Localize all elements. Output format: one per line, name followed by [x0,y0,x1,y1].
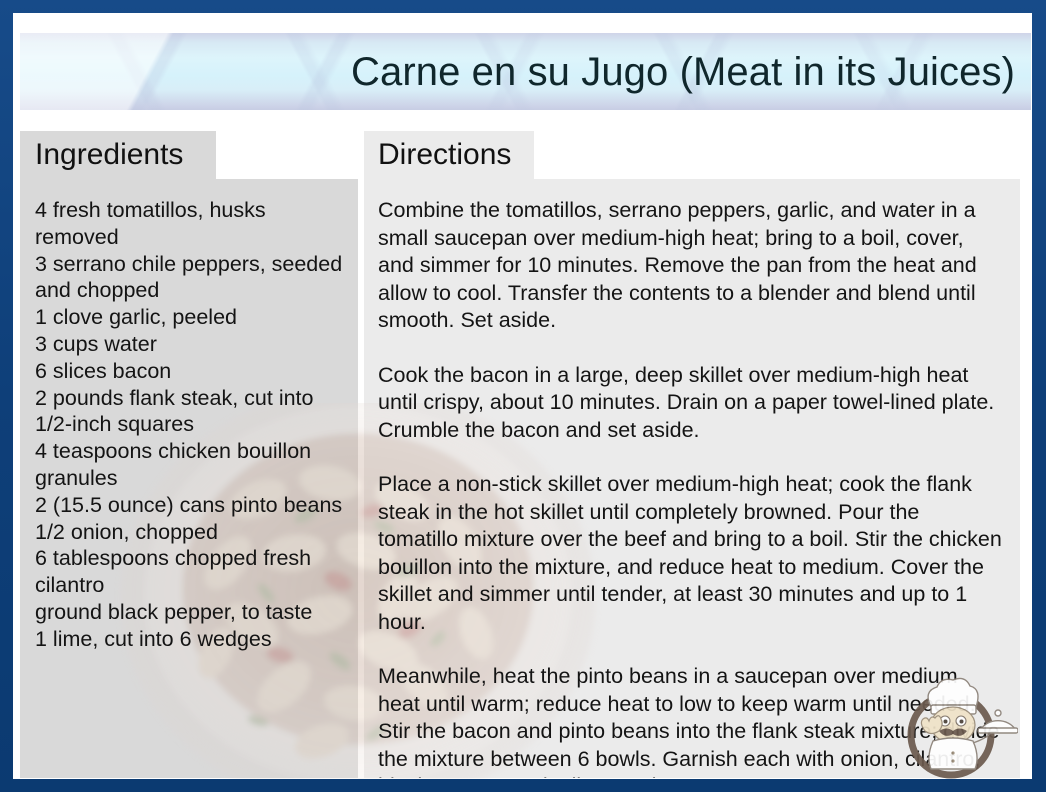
ingredient-item: 4 fresh tomatillos, husks removed [35,197,348,251]
ingredient-item: 2 (15.5 ounce) cans pinto beans [35,492,348,519]
ingredients-list: 4 fresh tomatillos, husks removed3 serra… [20,179,358,653]
recipe-card: Carne en su Jugo (Meat in its Juices) In… [0,0,1046,792]
ingredient-item: 1/2 onion, chopped [35,519,348,546]
ingredients-panel: 4 fresh tomatillos, husks removed3 serra… [20,179,358,778]
recipe-card-inner: Carne en su Jugo (Meat in its Juices) In… [13,13,1032,779]
ingredients-heading-label: Ingredients [35,140,183,170]
ingredient-item: 3 cups water [35,331,348,358]
title-banner: Carne en su Jugo (Meat in its Juices) [20,33,1031,110]
direction-step: Place a non-stick skillet over medium-hi… [378,471,1002,636]
directions-heading-label: Directions [378,140,511,170]
ingredient-item: 6 tablespoons chopped fresh cilantro [35,545,348,599]
recipe-title: Carne en su Jugo (Meat in its Juices) [351,51,1015,93]
ingredient-item: 1 clove garlic, peeled [35,304,348,331]
ingredient-item: 4 teaspoons chicken bouillon granules [35,438,348,492]
ingredient-item: 3 serrano chile peppers, seeded and chop… [35,251,348,305]
direction-step: Cook the bacon in a large, deep skillet … [378,362,1002,445]
ingredient-item: 1 lime, cut into 6 wedges [35,626,348,653]
ingredient-item: 2 pounds flank steak, cut into 1/2-inch … [35,385,348,439]
directions-heading-tab: Directions [364,131,534,179]
directions-panel: Combine the tomatillos, serrano peppers,… [364,179,1020,778]
directions-steps: Combine the tomatillos, serrano peppers,… [364,179,1020,778]
direction-step: Meanwhile, heat the pinto beans in a sau… [378,663,1002,778]
ingredients-heading-tab: Ingredients [20,131,216,179]
direction-step: Combine the tomatillos, serrano peppers,… [378,197,1002,335]
ingredient-item: ground black pepper, to taste [35,599,348,626]
ingredient-item: 6 slices bacon [35,358,348,385]
